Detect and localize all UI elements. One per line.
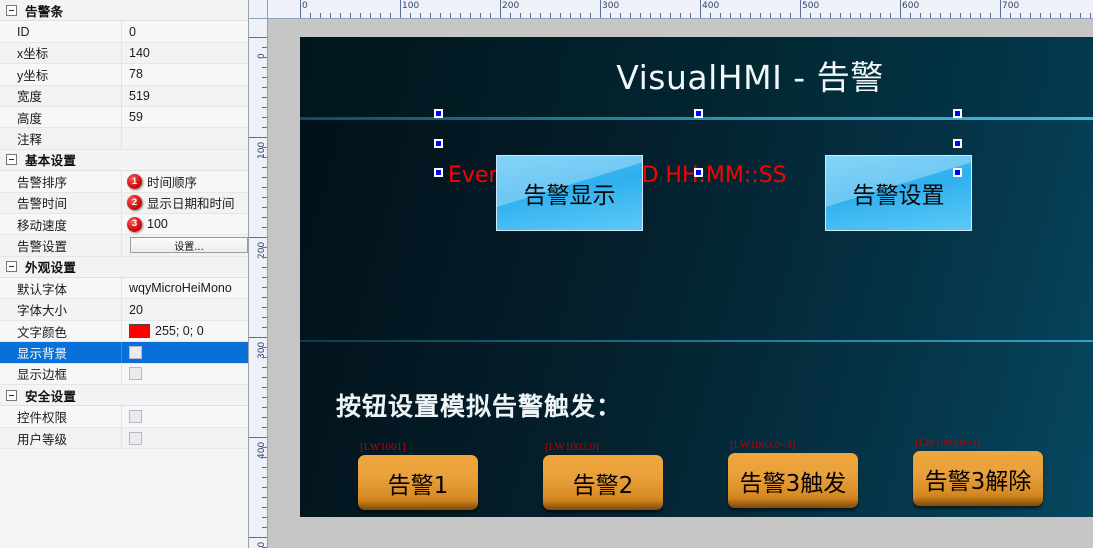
property-group-label: 安全设置	[25, 386, 76, 405]
ruler-tick	[930, 13, 931, 18]
ruler-tick	[262, 197, 267, 198]
property-value[interactable]: 140	[121, 43, 248, 63]
ruler-tick	[860, 13, 861, 18]
checkbox[interactable]	[129, 367, 142, 380]
ruler-tick	[262, 307, 267, 308]
ruler-tick	[590, 13, 591, 18]
trigger-button[interactable]: 告警2	[543, 455, 663, 510]
property-value-text: 显示日期和时间	[147, 193, 235, 212]
ruler-tick	[980, 13, 981, 18]
ruler-tick	[430, 13, 431, 18]
property-row[interactable]: 告警设置设置...	[0, 235, 248, 256]
ruler-tick	[540, 13, 541, 18]
selection-handle[interactable]	[694, 168, 703, 177]
ruler-tick	[262, 317, 267, 318]
property-label: 告警设置	[0, 236, 121, 255]
property-value[interactable]: 2显示日期和时间	[121, 193, 248, 213]
page-title: VisualHMI - 告警	[300, 51, 1093, 99]
ruler-tick	[850, 13, 851, 18]
ruler-tick	[262, 217, 267, 218]
property-value-text: 20	[129, 303, 143, 317]
ruler-tick	[330, 13, 331, 18]
ruler-tick	[262, 377, 267, 378]
ruler-corner	[249, 0, 268, 19]
property-label: 默认字体	[0, 279, 121, 298]
property-row[interactable]: ID0	[0, 21, 248, 42]
property-label: x坐标	[0, 43, 121, 62]
property-label: ID	[0, 25, 121, 39]
section-title: 按钮设置模拟告警触发：	[336, 387, 622, 423]
ruler-tick	[620, 13, 621, 18]
trigger-button-label: 告警3解除	[925, 462, 1032, 496]
property-row[interactable]: 默认字体wqyMicroHeiMono	[0, 278, 248, 299]
ruler-tick	[920, 13, 921, 18]
ruler-tick	[1060, 13, 1061, 18]
property-value[interactable]: 255; 0; 0	[121, 321, 248, 341]
ruler-tick	[950, 13, 951, 18]
ruler-tick	[890, 13, 891, 18]
property-value[interactable]: 519	[121, 86, 248, 106]
property-group-header[interactable]: 基本设置	[0, 150, 248, 171]
ruler-tick	[300, 0, 301, 19]
ruler-tick	[490, 13, 491, 18]
nav-button-alarm-settings[interactable]: 告警设置	[825, 155, 972, 231]
ruler-tick	[970, 13, 971, 18]
ruler-tick	[400, 0, 401, 19]
property-label: 字体大小	[0, 300, 121, 319]
ruler-tick	[262, 157, 267, 158]
ruler-tick	[630, 13, 631, 18]
ruler-tick	[262, 187, 267, 188]
property-row[interactable]: 注释	[0, 128, 248, 149]
ruler-tick	[370, 13, 371, 18]
ruler-tick	[410, 13, 411, 18]
ruler-label: 100	[402, 2, 419, 11]
ruler-tick	[760, 13, 761, 18]
property-value-text: wqyMicroHeiMono	[129, 281, 232, 295]
property-row[interactable]: x坐标140	[0, 43, 248, 64]
property-row[interactable]: 移动速度3100	[0, 214, 248, 235]
ruler-tick	[262, 257, 267, 258]
ruler-tick	[660, 13, 661, 18]
ruler-tick	[640, 13, 641, 18]
property-label: 用户等级	[0, 429, 121, 448]
property-row[interactable]: 宽度519	[0, 86, 248, 107]
ruler-tick	[262, 427, 267, 428]
address-tag: [LW1001]	[360, 441, 406, 453]
ruler-tick	[800, 0, 801, 19]
property-value-text: 时间顺序	[147, 172, 197, 191]
ruler-tick	[262, 277, 267, 278]
trigger-button[interactable]: 告警1	[358, 455, 478, 510]
property-row[interactable]: 用户等级	[0, 428, 248, 449]
ruler-tick	[262, 407, 267, 408]
ruler-tick	[262, 327, 267, 328]
ruler-tick	[550, 13, 551, 18]
property-group-header[interactable]: 外观设置	[0, 257, 248, 278]
ruler-tick	[1070, 13, 1071, 18]
trigger-button-wrapper: [LW1003.0~3]告警3触发	[728, 453, 858, 508]
property-row[interactable]: 显示背景	[0, 342, 248, 363]
ruler-tick	[830, 13, 831, 18]
ruler-tick	[960, 13, 961, 18]
ruler-tick	[310, 13, 311, 18]
ruler-tick	[440, 13, 441, 18]
ruler-tick	[262, 87, 267, 88]
ruler-tick	[262, 367, 267, 368]
ruler-tick	[470, 13, 471, 18]
ruler-tick	[790, 13, 791, 18]
horizontal-ruler: 0100200300400500600700800	[268, 0, 1093, 19]
collapse-minus-icon[interactable]	[6, 390, 17, 401]
selection-handle[interactable]	[694, 109, 703, 118]
ruler-tick	[262, 467, 267, 468]
address-tag: [LW1003.0~3]	[915, 437, 980, 449]
ruler-tick	[262, 267, 267, 268]
ruler-tick	[262, 397, 267, 398]
property-label: 显示边框	[0, 364, 121, 383]
property-value[interactable]	[121, 364, 248, 384]
ruler-label: 700	[1002, 2, 1019, 11]
address-tag: [LW1002.0]	[545, 441, 599, 453]
nav-button-alarm-display[interactable]: 告警显示	[496, 155, 643, 231]
property-value[interactable]	[121, 342, 248, 362]
ruler-tick	[480, 13, 481, 18]
trigger-button-wrapper: [LW1001]告警1	[358, 455, 478, 510]
collapse-minus-icon[interactable]	[6, 154, 17, 165]
collapse-minus-icon[interactable]	[6, 5, 17, 16]
property-value[interactable]: 20	[121, 299, 248, 319]
ruler-tick	[780, 13, 781, 18]
property-value-text: 0	[129, 25, 136, 39]
ruler-tick	[820, 13, 821, 18]
ruler-tick	[262, 387, 267, 388]
ruler-tick	[262, 497, 267, 498]
step-badge-icon: 1	[127, 174, 142, 189]
ruler-tick	[390, 13, 391, 18]
vertical-ruler: 0100200300400500	[249, 19, 268, 548]
ruler-tick	[670, 13, 671, 18]
property-row[interactable]: 告警排序1时间顺序	[0, 171, 248, 192]
ruler-tick	[262, 507, 267, 508]
property-group-header[interactable]: 安全设置	[0, 385, 248, 406]
color-swatch[interactable]	[129, 324, 150, 338]
ruler-tick	[340, 13, 341, 18]
property-row[interactable]: 显示边框	[0, 364, 248, 385]
ruler-tick	[420, 13, 421, 18]
property-group-label: 基本设置	[25, 150, 76, 169]
ruler-tick	[249, 437, 267, 438]
property-label: 显示背景	[0, 343, 121, 362]
property-label: 注释	[0, 129, 121, 148]
property-value[interactable]: 0	[121, 21, 248, 41]
property-value-text: 100	[147, 217, 168, 231]
trigger-button[interactable]: 告警3解除	[913, 451, 1043, 506]
property-value[interactable]	[121, 428, 248, 448]
ruler-tick	[840, 13, 841, 18]
ruler-tick	[262, 57, 267, 58]
ruler-tick	[1040, 13, 1041, 18]
ruler-tick	[262, 227, 267, 228]
ruler-tick	[730, 13, 731, 18]
property-value[interactable]: 设置...	[121, 235, 248, 255]
ruler-tick	[530, 13, 531, 18]
property-value[interactable]: wqyMicroHeiMono	[121, 278, 248, 298]
ruler-tick	[262, 127, 267, 128]
ruler-tick	[262, 177, 267, 178]
property-label: y坐标	[0, 65, 121, 84]
ruler-tick	[750, 13, 751, 18]
ruler-tick	[1030, 13, 1031, 18]
ruler-tick	[1020, 13, 1021, 18]
ruler-tick	[570, 13, 571, 18]
property-value[interactable]: 78	[121, 64, 248, 84]
selection-handle[interactable]	[953, 109, 962, 118]
ruler-tick	[650, 13, 651, 18]
trigger-button-label: 告警3触发	[740, 464, 847, 498]
ruler-tick	[262, 167, 267, 168]
property-label: 宽度	[0, 86, 121, 105]
selection-handle[interactable]	[434, 139, 443, 148]
property-label: 移动速度	[0, 215, 121, 234]
ruler-tick	[262, 417, 267, 418]
property-value-text: 519	[129, 89, 150, 103]
property-label: 文字颜色	[0, 322, 121, 341]
property-value-text: 140	[129, 46, 150, 60]
ruler-tick	[262, 457, 267, 458]
ruler-tick	[460, 13, 461, 18]
ruler-tick	[360, 13, 361, 18]
property-row[interactable]: 字体大小20	[0, 299, 248, 320]
lower-section: 按钮设置模拟告警触发： [LW1001]告警1[LW1002.0]告警2[LW1…	[300, 342, 1093, 517]
ruler-tick	[262, 487, 267, 488]
trigger-button-wrapper: [LW1002.0]告警2	[543, 455, 663, 510]
ruler-tick	[880, 13, 881, 18]
ruler-tick	[450, 13, 451, 18]
alarm-settings-button[interactable]: 设置...	[130, 237, 248, 253]
property-group-label: 外观设置	[25, 257, 76, 276]
ruler-tick	[940, 13, 941, 18]
ruler-tick	[500, 0, 501, 19]
selection-handle[interactable]	[434, 109, 443, 118]
property-value[interactable]: 1时间顺序	[121, 171, 248, 191]
property-label: 控件权限	[0, 407, 121, 426]
property-value-text: 255; 0; 0	[155, 324, 204, 338]
property-group-label: 告警条	[25, 1, 63, 20]
ruler-tick	[580, 13, 581, 18]
ruler-tick	[380, 13, 381, 18]
trigger-button-wrapper: [LW1003.0~3]告警3解除	[913, 451, 1043, 506]
selection-handle[interactable]	[953, 139, 962, 148]
property-value-text: 59	[129, 110, 143, 124]
ruler-tick	[700, 0, 701, 19]
nav-button-label: 告警显示	[524, 176, 616, 210]
ruler-tick	[810, 13, 811, 18]
ruler-tick	[249, 137, 267, 138]
ruler-tick	[249, 37, 267, 38]
ruler-tick	[770, 13, 771, 18]
ruler-label: 300	[602, 2, 619, 11]
ruler-tick	[262, 477, 267, 478]
ruler-tick	[262, 347, 267, 348]
property-row[interactable]: y坐标78	[0, 64, 248, 85]
property-value[interactable]: 59	[121, 107, 248, 127]
property-group-header[interactable]: 告警条	[0, 0, 248, 21]
ruler-tick	[262, 297, 267, 298]
ruler-label: 600	[902, 2, 919, 11]
selection-handle[interactable]	[953, 168, 962, 177]
ruler-tick	[740, 13, 741, 18]
ruler-tick	[262, 77, 267, 78]
trigger-button-label: 告警1	[388, 466, 449, 500]
property-value[interactable]	[121, 128, 248, 148]
ruler-tick	[610, 13, 611, 18]
selection-indicator	[0, 342, 3, 362]
ruler-tick	[262, 47, 267, 48]
trigger-button[interactable]: 告警3触发	[728, 453, 858, 508]
property-row[interactable]: 告警时间2显示日期和时间	[0, 193, 248, 214]
property-label: 告警时间	[0, 193, 121, 212]
property-row[interactable]: 控件权限	[0, 406, 248, 427]
ruler-tick	[720, 13, 721, 18]
property-label: 告警排序	[0, 172, 121, 191]
ruler-tick	[910, 13, 911, 18]
step-badge-icon: 3	[127, 217, 142, 232]
ruler-tick	[690, 13, 691, 18]
ruler-tick	[560, 13, 561, 18]
property-value[interactable]	[121, 406, 248, 426]
canvas-scroll-area[interactable]: VisualHMI - 告警 Event YYYY/MM/DD HH:MM::S…	[268, 19, 1093, 548]
ruler-tick	[249, 237, 267, 238]
selection-handle[interactable]	[434, 168, 443, 177]
ruler-tick	[262, 357, 267, 358]
ruler-label: 200	[502, 2, 519, 11]
property-panel: 告警条ID0x坐标140y坐标78宽度519高度59注释基本设置告警排序1时间顺…	[0, 0, 249, 548]
ruler-tick	[262, 247, 267, 248]
ruler-tick	[1010, 13, 1011, 18]
ruler-tick	[249, 337, 267, 338]
ruler-label: 500	[802, 2, 819, 11]
ruler-label: 400	[702, 2, 719, 11]
nav-button-label: 告警设置	[853, 176, 945, 210]
hmi-screen[interactable]: VisualHMI - 告警 Event YYYY/MM/DD HH:MM::S…	[300, 37, 1093, 517]
step-badge-icon: 2	[127, 195, 142, 210]
ruler-tick	[1080, 13, 1081, 18]
ruler-tick	[990, 13, 991, 18]
ruler-tick	[262, 287, 267, 288]
ruler-tick	[262, 97, 267, 98]
editor-area: 0100200300400500600700800 01002003004005…	[249, 0, 1093, 548]
ruler-tick	[262, 147, 267, 148]
checkbox[interactable]	[129, 432, 142, 445]
ruler-tick	[262, 117, 267, 118]
ruler-tick	[600, 0, 601, 19]
ruler-tick	[262, 207, 267, 208]
trigger-button-label: 告警2	[573, 466, 634, 500]
ruler-tick	[249, 537, 267, 538]
ruler-tick	[870, 13, 871, 18]
ruler-tick	[680, 13, 681, 18]
ruler-tick	[262, 107, 267, 108]
ruler-tick	[262, 447, 267, 448]
ruler-tick	[710, 13, 711, 18]
ruler-tick	[262, 67, 267, 68]
ruler-tick	[1050, 13, 1051, 18]
collapse-minus-icon[interactable]	[6, 261, 17, 272]
ruler-tick	[262, 517, 267, 518]
ruler-tick	[520, 13, 521, 18]
property-value[interactable]: 3100	[121, 214, 248, 234]
ruler-label: 0	[302, 2, 308, 11]
application-window: 告警条ID0x坐标140y坐标78宽度519高度59注释基本设置告警排序1时间顺…	[0, 0, 1093, 548]
property-label: 高度	[0, 108, 121, 127]
address-tag: [LW1003.0~3]	[730, 439, 795, 451]
ruler-tick	[1090, 13, 1091, 18]
property-row[interactable]: 高度59	[0, 107, 248, 128]
ruler-tick	[320, 13, 321, 18]
ruler-tick	[262, 527, 267, 528]
property-value-text: 78	[129, 67, 143, 81]
ruler-tick	[350, 13, 351, 18]
checkbox[interactable]	[129, 410, 142, 423]
ruler-tick	[900, 0, 901, 19]
checkbox[interactable]	[129, 346, 142, 359]
ruler-tick	[510, 13, 511, 18]
ruler-tick	[1000, 0, 1001, 19]
property-row[interactable]: 文字颜色255; 0; 0	[0, 321, 248, 342]
